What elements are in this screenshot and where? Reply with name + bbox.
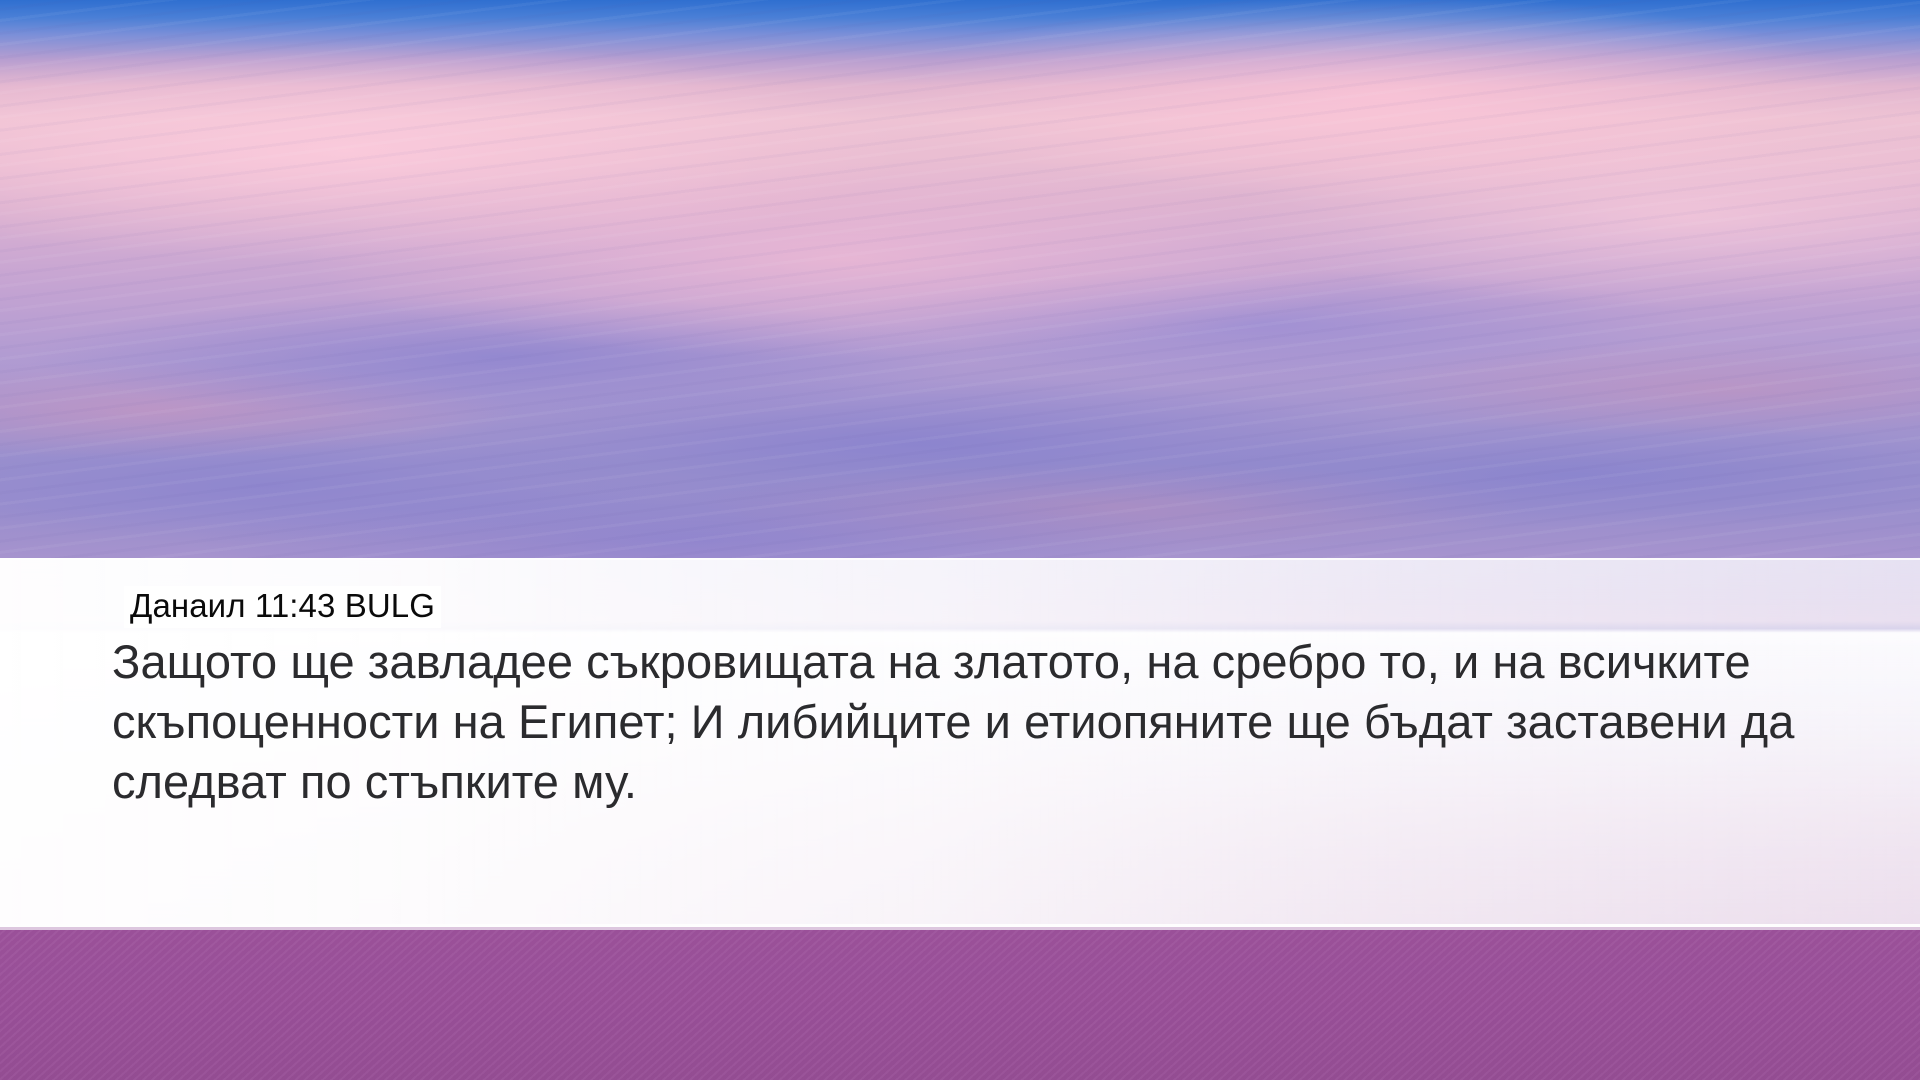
footer-bar [0,930,1920,1080]
verse-overlay-panel: Данаил 11:43 BULG Защото ще завладее сък… [0,558,1920,927]
verse-image-canvas: Данаил 11:43 BULG Защото ще завладее сък… [0,0,1920,1080]
verse-reference: Данаил 11:43 BULG [124,586,441,628]
verse-body-text: Защото ще завладее съкровищата на златот… [112,632,1812,812]
verse-reference-container: Данаил 11:43 BULG [124,586,441,628]
